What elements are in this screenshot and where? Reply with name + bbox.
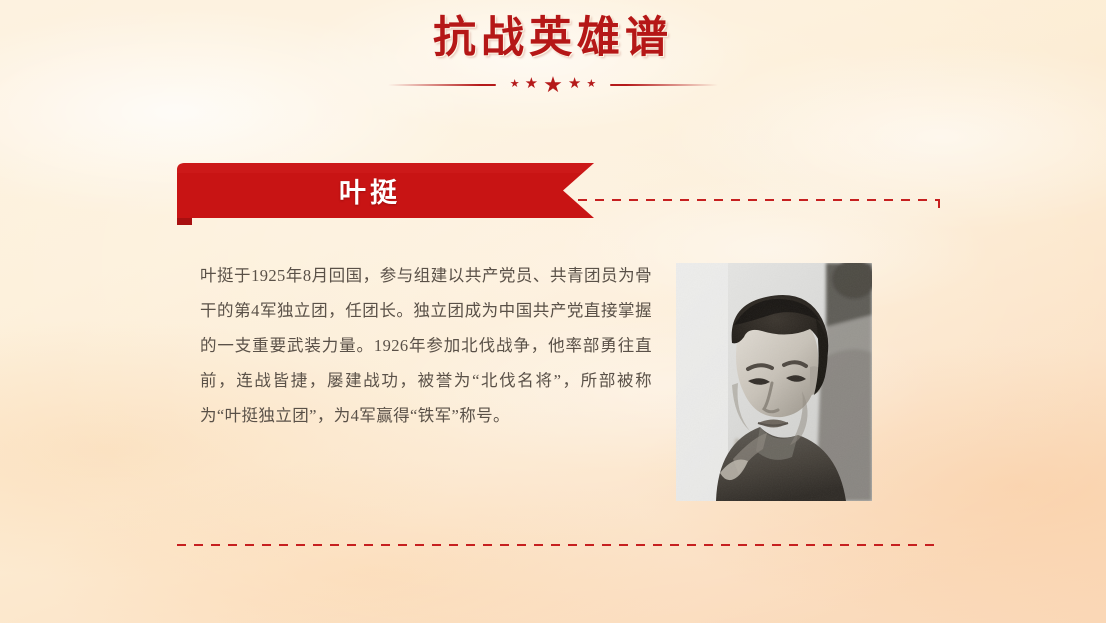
portrait-photo-image [676,263,872,501]
star-icon: ★ [543,74,563,96]
frame-edge-right [938,199,940,546]
star-icon: ★ [586,79,596,90]
decoration-rule-right [610,84,718,86]
name-banner: 叶挺 [170,161,594,227]
slide-root: 抗战英雄谱 ★ ★ ★ ★ ★ 叶挺 [0,0,1106,623]
title-decoration: ★ ★ ★ ★ ★ [0,74,1106,96]
portrait-photo: 叶挺 历史黑白肖像照 [676,263,872,501]
frame-edge-top [578,199,940,201]
page-title: 抗战英雄谱 [0,14,1106,65]
star-icon: ★ [568,77,581,92]
star-icon: ★ [510,79,520,90]
frame-edge-left [177,199,179,546]
decoration-star-group: ★ ★ ★ ★ ★ [510,74,596,96]
biography-paragraph: 叶挺于1925年8月回国，参与组建以共产党员、共青团员为骨干的第4军独立团，任团… [200,258,652,433]
slide-header: 抗战英雄谱 ★ ★ ★ ★ ★ [0,14,1106,96]
banner-ribbon-shape [170,161,594,227]
decoration-rule-left [388,84,496,86]
star-icon: ★ [525,77,538,92]
frame-edge-bottom [177,544,940,546]
